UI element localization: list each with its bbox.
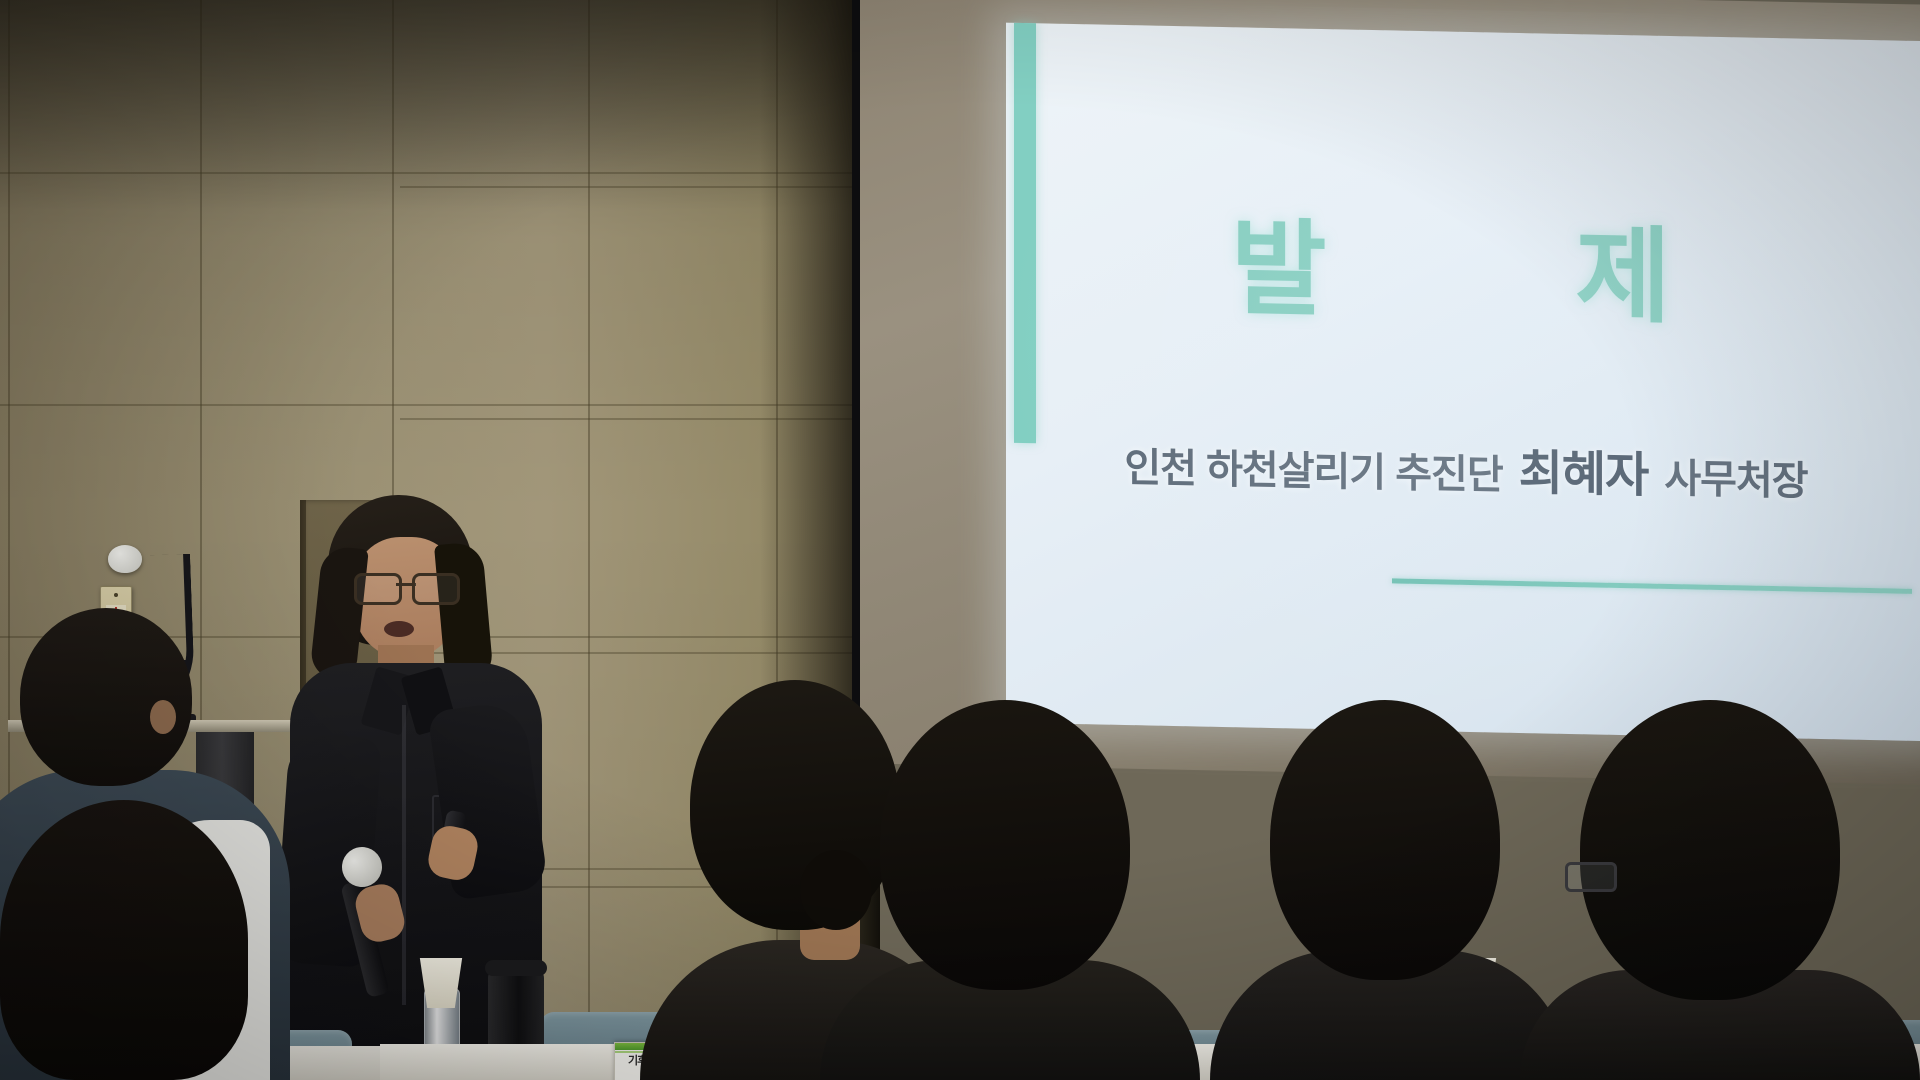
slide-speaker-name: 최혜자	[1513, 447, 1654, 503]
wall-top-shadow	[0, 0, 880, 210]
thermos-cap	[485, 960, 547, 976]
audience-member-head	[0, 800, 248, 1080]
audience-member-ear	[150, 700, 176, 734]
presenter-glasses-icon	[354, 573, 460, 601]
slide-divider-rule	[1392, 578, 1912, 593]
audience-member-head	[880, 700, 1130, 990]
presentation-photo-scene: 발 제 인천 하천살리기 추진단 최혜자 사무처장	[0, 0, 1920, 1080]
slide-subtitle-prefix: 인천 하천살리기 추진단	[1124, 446, 1502, 498]
slide-subtitle: 인천 하천살리기 추진단 최혜자 사무처장	[1006, 423, 1920, 511]
presenter-hair-left	[309, 545, 369, 681]
slide-subtitle-suffix: 사무처장	[1664, 457, 1807, 504]
audience-member-glasses-icon	[1565, 862, 1617, 892]
presenter-mouth	[384, 621, 414, 637]
audience-member-head	[1270, 700, 1500, 980]
slide-title: 발 제	[1006, 213, 1896, 335]
presentation-slide: 발 제 인천 하천살리기 추진단 최혜자 사무처장	[1006, 23, 1920, 742]
audience-member-head	[1580, 700, 1840, 1000]
presenter-shirt-placket	[402, 705, 406, 1005]
audience-member-head	[20, 608, 192, 786]
audience-member-hair-bun	[800, 850, 872, 930]
